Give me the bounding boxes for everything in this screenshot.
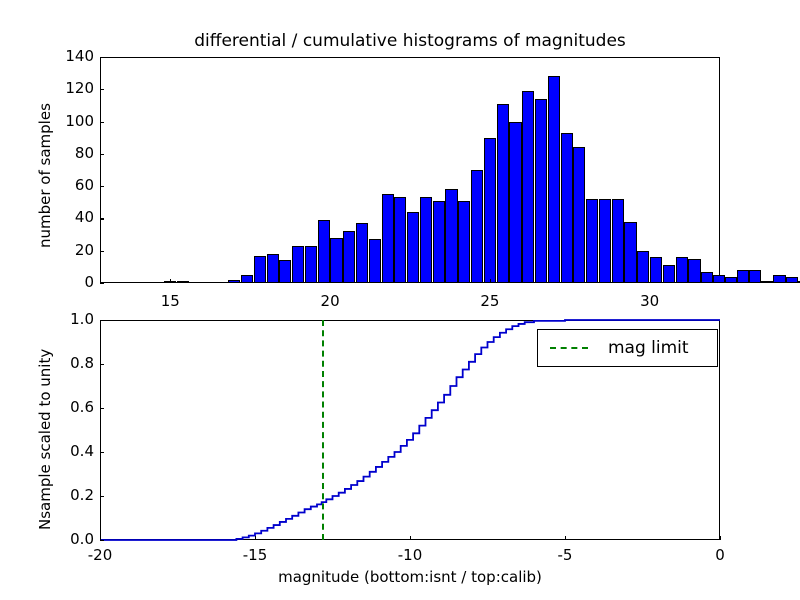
- bottom-xtick-mark: [565, 536, 566, 540]
- bottom-xtick-label: 0: [680, 546, 760, 564]
- bottom-xtick-label: -5: [525, 546, 605, 564]
- bottom-panel-xtick-labels: -20-15-10-50: [0, 0, 800, 600]
- bottom-xtick-mark: [410, 536, 411, 540]
- bottom-xtick-mark: [100, 536, 101, 540]
- figure-xlabel: magnitude (bottom:isnt / top:calib): [100, 568, 720, 586]
- bottom-xtick-mark: [255, 536, 256, 540]
- bottom-xtick-label: -10: [370, 546, 450, 564]
- bottom-xtick-label: -20: [60, 546, 140, 564]
- bottom-xtick-mark: [720, 536, 721, 540]
- figure-canvas: differential / cumulative histograms of …: [0, 0, 800, 600]
- bottom-xtick-label: -15: [215, 546, 295, 564]
